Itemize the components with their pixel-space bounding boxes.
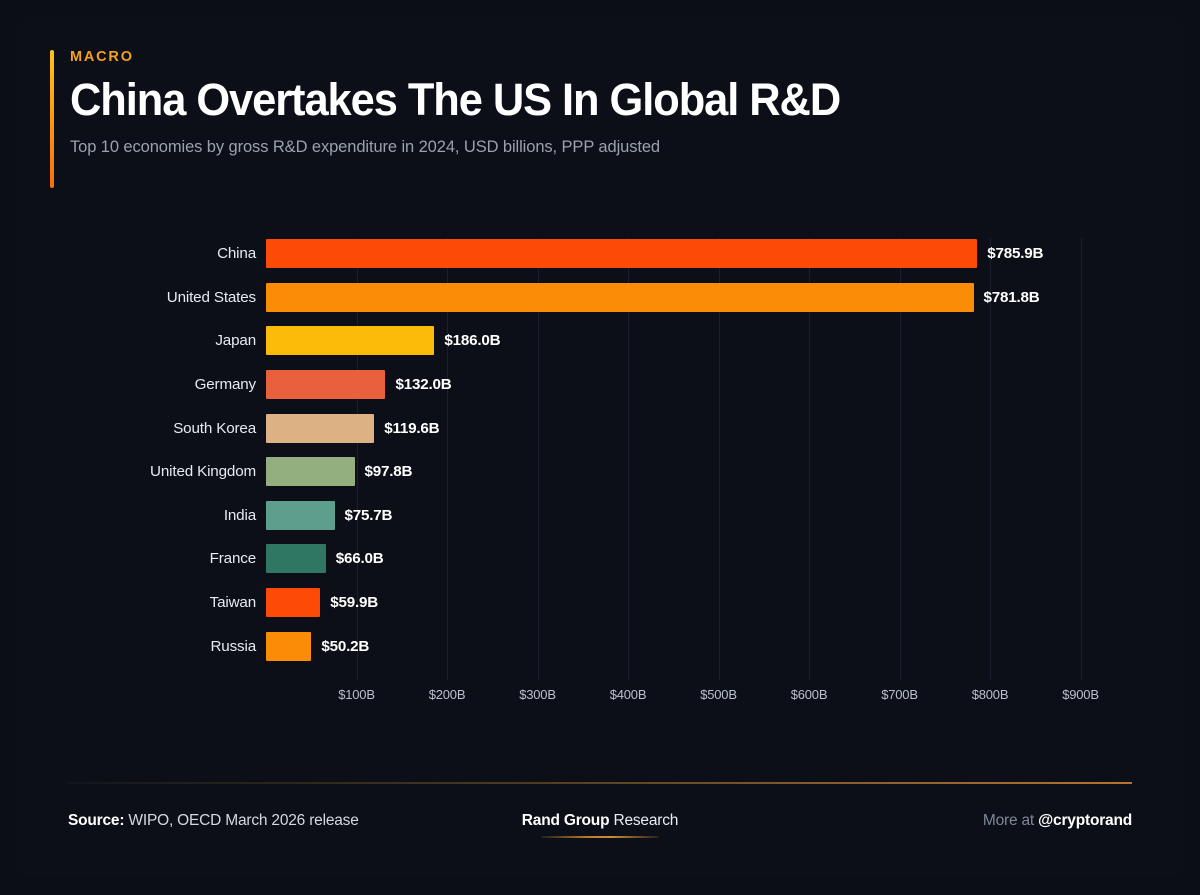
bar[interactable]: [266, 544, 326, 573]
source-label: Source:: [68, 812, 124, 829]
bar-value-label: $119.6B: [384, 420, 439, 437]
bar-category-label: Germany: [50, 376, 256, 393]
bar-rows: China$785.9BUnited States$781.8BJapan$18…: [50, 232, 1120, 668]
accent-bar: [50, 50, 54, 188]
bar[interactable]: [266, 414, 374, 443]
bar-row[interactable]: Russia$50.2B: [50, 624, 1120, 668]
source-note: Source: WIPO, OECD March 2026 release: [68, 812, 359, 830]
bar-value-label: $785.9B: [987, 245, 1043, 262]
more-at-label: More at: [983, 812, 1034, 829]
source-text: WIPO, OECD March 2026 release: [128, 812, 358, 829]
x-axis-tick-label: $100B: [338, 687, 375, 702]
bar-category-label: China: [50, 245, 256, 262]
bar-value-label: $50.2B: [321, 638, 369, 655]
brand-underline: [541, 836, 659, 838]
x-axis-tick-label: $200B: [429, 687, 466, 702]
social-handle[interactable]: @cryptorand: [1038, 812, 1132, 829]
bar-row[interactable]: United Kingdom$97.8B: [50, 450, 1120, 494]
bar-row[interactable]: India$75.7B: [50, 494, 1120, 538]
bar-track: $59.9B: [266, 581, 1120, 625]
footer-divider: [68, 782, 1132, 784]
bar-category-label: Taiwan: [50, 594, 256, 611]
footer: Source: WIPO, OECD March 2026 release Ra…: [68, 808, 1132, 848]
bar[interactable]: [266, 457, 355, 486]
bar-category-label: United Kingdom: [50, 463, 256, 480]
bar[interactable]: [266, 588, 320, 617]
bar-category-label: United States: [50, 289, 256, 306]
bar-track: $119.6B: [266, 406, 1120, 450]
x-axis-tick-label: $600B: [791, 687, 828, 702]
bar-row[interactable]: China$785.9B: [50, 232, 1120, 276]
x-axis-ticks: $100B$200B$300B$400B$500B$600B$700B$800B…: [266, 687, 1166, 711]
bar-row[interactable]: South Korea$119.6B: [50, 406, 1120, 450]
brand-credit: Rand Group Research: [522, 812, 678, 837]
bar-row[interactable]: Taiwan$59.9B: [50, 581, 1120, 625]
bar-value-label: $186.0B: [444, 332, 500, 349]
social-credit: More at @cryptorand: [983, 812, 1132, 830]
bar-category-label: South Korea: [50, 420, 256, 437]
x-axis-tick-label: $300B: [519, 687, 556, 702]
bar-category-label: India: [50, 507, 256, 524]
bar-row[interactable]: France$66.0B: [50, 537, 1120, 581]
header: MACRO China Overtakes The US In Global R…: [50, 47, 1060, 192]
bar-value-label: $132.0B: [395, 376, 451, 393]
bar-value-label: $66.0B: [336, 550, 384, 567]
x-axis-tick-label: $800B: [972, 687, 1009, 702]
bar[interactable]: [266, 326, 434, 355]
bar-track: $66.0B: [266, 537, 1120, 581]
x-axis-tick-label: $500B: [700, 687, 737, 702]
page-title: China Overtakes The US In Global R&D: [70, 76, 1025, 124]
bar-value-label: $75.7B: [345, 507, 393, 524]
bar-row[interactable]: Japan$186.0B: [50, 319, 1120, 363]
bar-track: $781.8B: [266, 276, 1120, 320]
bar[interactable]: [266, 632, 311, 661]
bar-track: $785.9B: [266, 232, 1120, 276]
bar[interactable]: [266, 239, 977, 268]
bar[interactable]: [266, 283, 974, 312]
bar-track: $97.8B: [266, 450, 1120, 494]
bar[interactable]: [266, 370, 385, 399]
brand-suffix: Research: [613, 812, 678, 829]
x-axis-tick-label: $700B: [881, 687, 918, 702]
bar-row[interactable]: United States$781.8B: [50, 276, 1120, 320]
bar-chart: China$785.9BUnited States$781.8BJapan$18…: [50, 232, 1120, 722]
bar-category-label: France: [50, 550, 256, 567]
bar-track: $186.0B: [266, 319, 1120, 363]
bar-category-label: Japan: [50, 332, 256, 349]
bar-category-label: Russia: [50, 638, 256, 655]
bar-row[interactable]: Germany$132.0B: [50, 363, 1120, 407]
brand-name: Rand Group: [522, 812, 610, 829]
bar-value-label: $59.9B: [330, 594, 378, 611]
page-subtitle: Top 10 economies by gross R&D expenditur…: [70, 138, 1060, 157]
x-axis-tick-label: $400B: [610, 687, 647, 702]
kicker-label: MACRO: [70, 47, 1060, 65]
bar-value-label: $97.8B: [365, 463, 413, 480]
bar-track: $50.2B: [266, 624, 1120, 668]
infographic-root: MACRO China Overtakes The US In Global R…: [0, 0, 1200, 895]
x-axis-tick-label: $900B: [1062, 687, 1099, 702]
bar-value-label: $781.8B: [984, 289, 1040, 306]
bar[interactable]: [266, 501, 335, 530]
bar-track: $132.0B: [266, 363, 1120, 407]
bar-track: $75.7B: [266, 494, 1120, 538]
